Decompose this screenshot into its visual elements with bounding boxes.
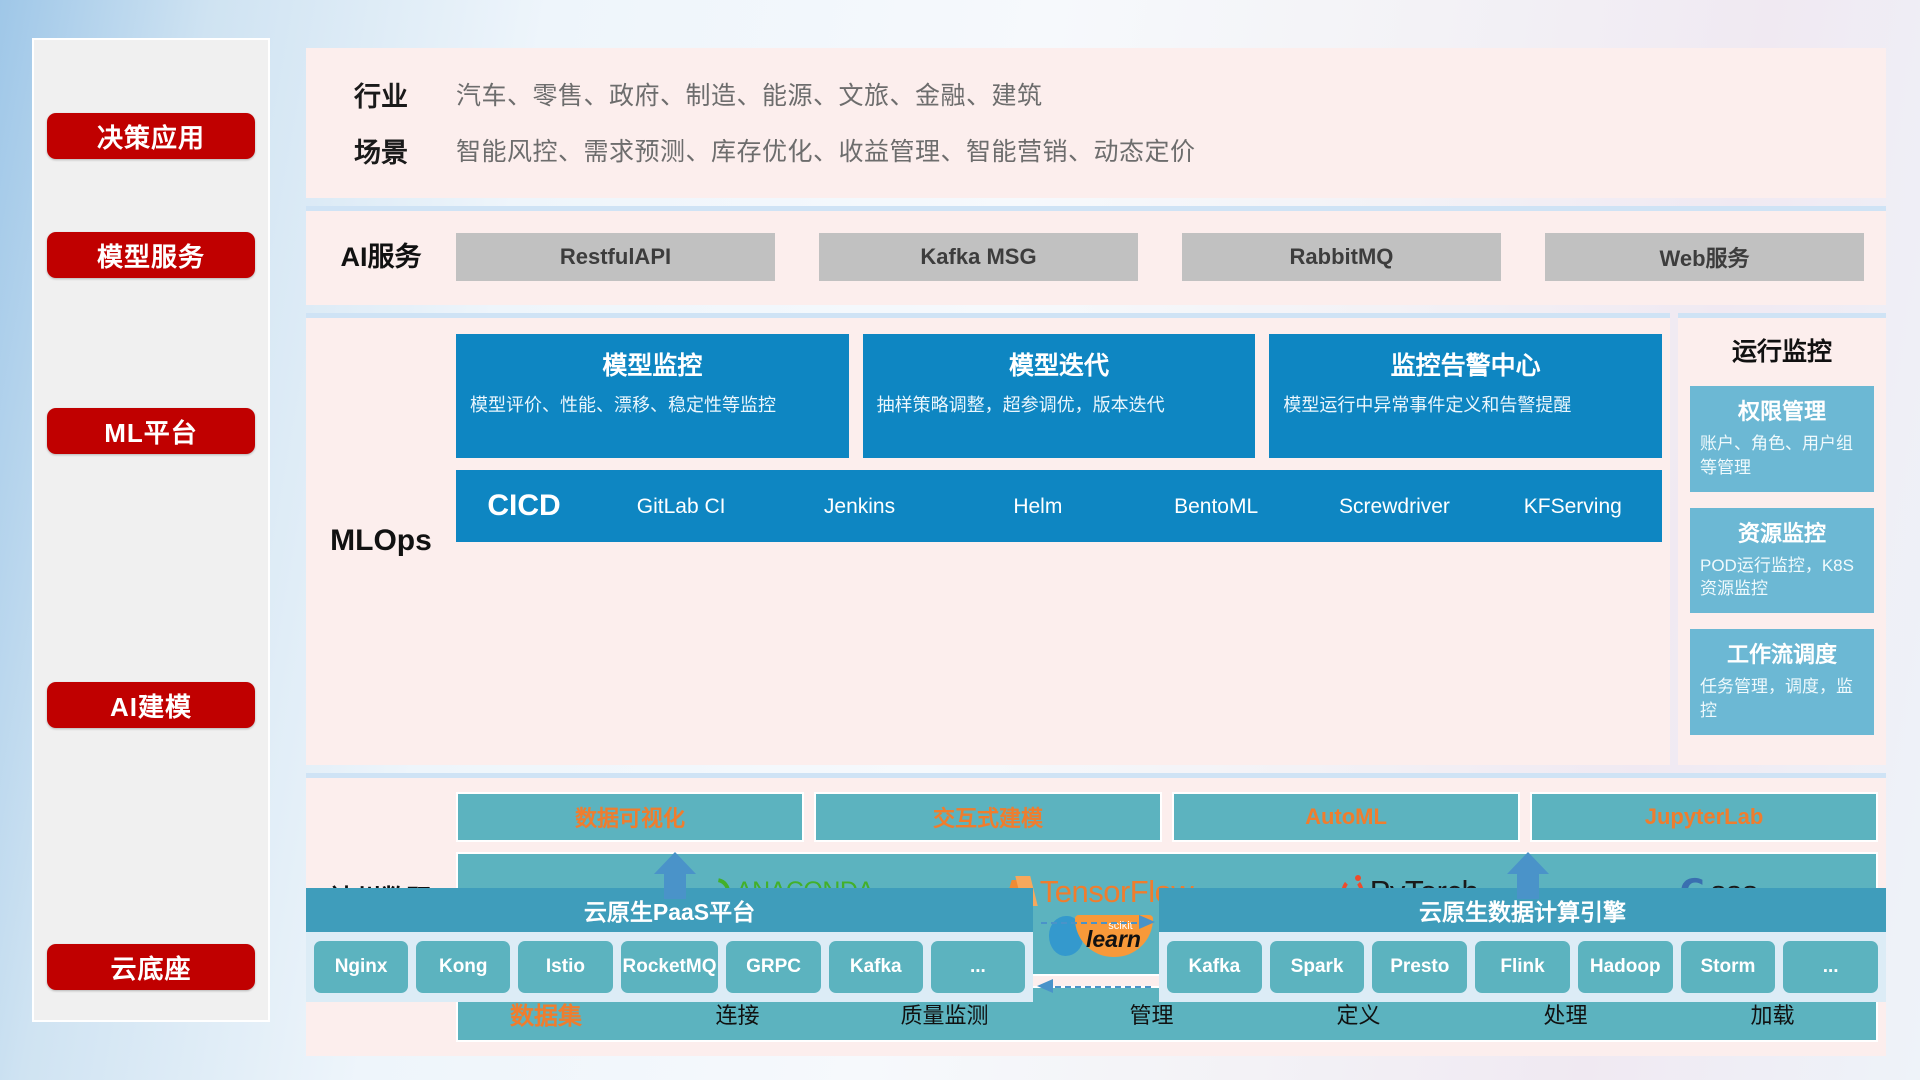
compute-chip-kafka[interactable]: Kafka — [1167, 941, 1262, 993]
runtime-monitor-panel: 运行监控 权限管理 账户、角色、用户组等管理 资源监控 POD运行监控，K8S资… — [1678, 313, 1886, 765]
paas-chip-rocketmq[interactable]: RocketMQ — [621, 941, 719, 993]
dash-arrow-left-head — [1037, 979, 1053, 993]
ai-service-chip-rabbitmq[interactable]: RabbitMQ — [1182, 233, 1501, 281]
lab-tile-automl[interactable]: AutoML — [1172, 792, 1520, 842]
industry-label: 行业 — [306, 75, 456, 114]
ai-service-chip-web-service[interactable]: Web服务 — [1545, 233, 1864, 281]
ai-service-band: AI服务 RestfulAPI Kafka MSG RabbitMQ Web服务 — [306, 206, 1886, 305]
mlops-card-list: 模型监控 模型评价、性能、漂移、稳定性等监控 模型迭代 抽样策略调整，超参调优，… — [456, 334, 1662, 458]
compute-chip-flink[interactable]: Flink — [1475, 941, 1570, 993]
card-title: 资源监控 — [1700, 516, 1864, 548]
mlops-card-model-iteration[interactable]: 模型迭代 抽样策略调整，超参调优，版本迭代 — [863, 334, 1256, 458]
mlops-label: MLOps — [306, 334, 456, 749]
paas-block: 云原生PaaS平台 Nginx Kong Istio RocketMQ GRPC… — [306, 888, 1033, 1002]
lab-tile-data-visualization[interactable]: 数据可视化 — [456, 792, 804, 842]
lab-tile-interactive-modeling[interactable]: 交互式建模 — [814, 792, 1162, 842]
cicd-item-gitlab-ci[interactable]: GitLab CI — [592, 496, 770, 517]
dash-arrow-right-head — [1139, 915, 1155, 929]
dash-arrow-right-line — [1041, 922, 1137, 924]
arrow-stem — [1517, 873, 1539, 899]
stage-chip-label: AI建模 — [110, 687, 192, 724]
compute-chip-storm[interactable]: Storm — [1681, 941, 1776, 993]
card-title: 监控告警中心 — [1283, 346, 1648, 382]
compute-chip-spark[interactable]: Spark — [1270, 941, 1365, 993]
arrow-head-icon — [654, 852, 696, 874]
mlops-content: 模型监控 模型评价、性能、漂移、稳定性等监控 模型迭代 抽样策略调整，超参调优，… — [456, 334, 1670, 749]
cicd-item-bentoml[interactable]: BentoML — [1127, 496, 1305, 517]
paas-chip-kafka[interactable]: Kafka — [829, 941, 923, 993]
ai-service-chip-restfulapi[interactable]: RestfulAPI — [456, 233, 775, 281]
ai-service-chip-kafka-msg[interactable]: Kafka MSG — [819, 233, 1138, 281]
cicd-item-jenkins[interactable]: Jenkins — [770, 496, 948, 517]
lab-tile-jupyterlab[interactable]: JupyterLab — [1530, 792, 1878, 842]
scenario-label: 场景 — [306, 131, 456, 170]
arrow-stem — [664, 873, 686, 899]
compute-chip-hadoop[interactable]: Hadoop — [1578, 941, 1673, 993]
dataset-item-loading[interactable]: 加载 — [1669, 998, 1876, 1030]
card-title: 模型迭代 — [877, 346, 1242, 382]
compute-chip-presto[interactable]: Presto — [1372, 941, 1467, 993]
monitor-card-resource[interactable]: 资源监控 POD运行监控，K8S资源监控 — [1690, 508, 1874, 614]
runtime-monitor-title: 运行监控 — [1690, 332, 1874, 368]
ml-lab-tile-list: 数据可视化 交互式建模 AutoML JupyterLab — [456, 792, 1878, 842]
paas-chip-grpc[interactable]: GRPC — [726, 941, 820, 993]
card-desc: POD运行监控，K8S资源监控 — [1700, 554, 1864, 602]
card-desc: 抽样策略调整，超参调优，版本迭代 — [877, 392, 1242, 418]
paas-chip-more[interactable]: ... — [931, 941, 1025, 993]
cicd-bar: CICD GitLab CI Jenkins Helm BentoML Scre… — [456, 470, 1662, 542]
scenario-line: 场景 智能风控、需求预测、库存优化、收益管理、智能营销、动态定价 — [306, 122, 1886, 178]
stage-chip-label: 模型服务 — [97, 237, 205, 274]
cicd-item-screwdriver[interactable]: Screwdriver — [1305, 496, 1483, 517]
card-desc: 任务管理，调度，监控 — [1700, 675, 1864, 723]
cicd-item-helm[interactable]: Helm — [949, 496, 1127, 517]
architecture-diagram: 决策应用 模型服务 ML平台 AI建模 云底座 行业 汽车、零售、政府、制造、能… — [0, 0, 1920, 1080]
stage-chip-model-service[interactable]: 模型服务 — [47, 232, 255, 278]
stage-chip-ai-modeling[interactable]: AI建模 — [47, 682, 255, 728]
mlops-band: MLOps 模型监控 模型评价、性能、漂移、稳定性等监控 模型迭代 抽样策略调整… — [306, 313, 1670, 765]
paas-chip-kong[interactable]: Kong — [416, 941, 510, 993]
paas-chip-istio[interactable]: Istio — [518, 941, 612, 993]
ai-service-items: RestfulAPI Kafka MSG RabbitMQ Web服务 — [456, 233, 1886, 281]
scenario-value: 智能风控、需求预测、库存优化、收益管理、智能营销、动态定价 — [456, 132, 1196, 168]
industry-line: 行业 汽车、零售、政府、制造、能源、文旅、金融、建筑 — [306, 66, 1886, 122]
mlops-card-model-monitoring[interactable]: 模型监控 模型评价、性能、漂移、稳定性等监控 — [456, 334, 849, 458]
compute-engine-block: 云原生数据计算引擎 Kafka Spark Presto Flink Hadoo… — [1159, 888, 1886, 1002]
stage-rail — [32, 38, 270, 1022]
stage-chip-label: 云底座 — [110, 949, 191, 986]
industry-value: 汽车、零售、政府、制造、能源、文旅、金融、建筑 — [456, 76, 1043, 112]
dataset-item-processing[interactable]: 处理 — [1462, 998, 1669, 1030]
card-desc: 模型运行中异常事件定义和告警提醒 — [1283, 392, 1648, 418]
stage-chip-label: 决策应用 — [97, 118, 205, 155]
mlops-section: MLOps 模型监控 模型评价、性能、漂移、稳定性等监控 模型迭代 抽样策略调整… — [306, 313, 1886, 765]
dataset-item-definition[interactable]: 定义 — [1255, 998, 1462, 1030]
compute-engine-items: Kafka Spark Presto Flink Hadoop Storm ..… — [1159, 932, 1886, 1002]
card-desc: 账户、角色、用户组等管理 — [1700, 432, 1864, 480]
decision-app-band: 行业 汽车、零售、政府、制造、能源、文旅、金融、建筑 场景 智能风控、需求预测、… — [306, 48, 1886, 198]
mlops-card-alert-center[interactable]: 监控告警中心 模型运行中异常事件定义和告警提醒 — [1269, 334, 1662, 458]
card-desc: 模型评价、性能、漂移、稳定性等监控 — [470, 392, 835, 418]
compute-chip-more[interactable]: ... — [1783, 941, 1878, 993]
card-title: 工作流调度 — [1700, 637, 1864, 669]
card-title: 权限管理 — [1700, 394, 1864, 426]
stage-chip-cloud-base[interactable]: 云底座 — [47, 944, 255, 990]
stage-chip-decision-app[interactable]: 决策应用 — [47, 113, 255, 159]
paas-items: Nginx Kong Istio RocketMQ GRPC Kafka ... — [306, 932, 1033, 1002]
cloud-base-section: 云原生PaaS平台 Nginx Kong Istio RocketMQ GRPC… — [306, 888, 1886, 1002]
paas-chip-nginx[interactable]: Nginx — [314, 941, 408, 993]
dataset-item-connect[interactable]: 连接 — [634, 998, 841, 1030]
dataset-item-management[interactable]: 管理 — [1048, 998, 1255, 1030]
card-title: 模型监控 — [470, 346, 835, 382]
monitor-card-permission[interactable]: 权限管理 账户、角色、用户组等管理 — [1690, 386, 1874, 492]
arrow-head-icon — [1507, 852, 1549, 874]
stage-chip-ml-platform[interactable]: ML平台 — [47, 408, 255, 454]
dash-arrow-left-line — [1055, 986, 1151, 988]
ai-service-label: AI服务 — [306, 241, 456, 273]
cicd-title: CICD — [456, 489, 592, 523]
monitor-card-workflow[interactable]: 工作流调度 任务管理，调度，监控 — [1690, 629, 1874, 735]
stage-chip-label: ML平台 — [104, 413, 198, 450]
dataset-item-quality-monitoring[interactable]: 质量监测 — [841, 998, 1048, 1030]
cicd-item-kfserving[interactable]: KFServing — [1484, 496, 1662, 517]
